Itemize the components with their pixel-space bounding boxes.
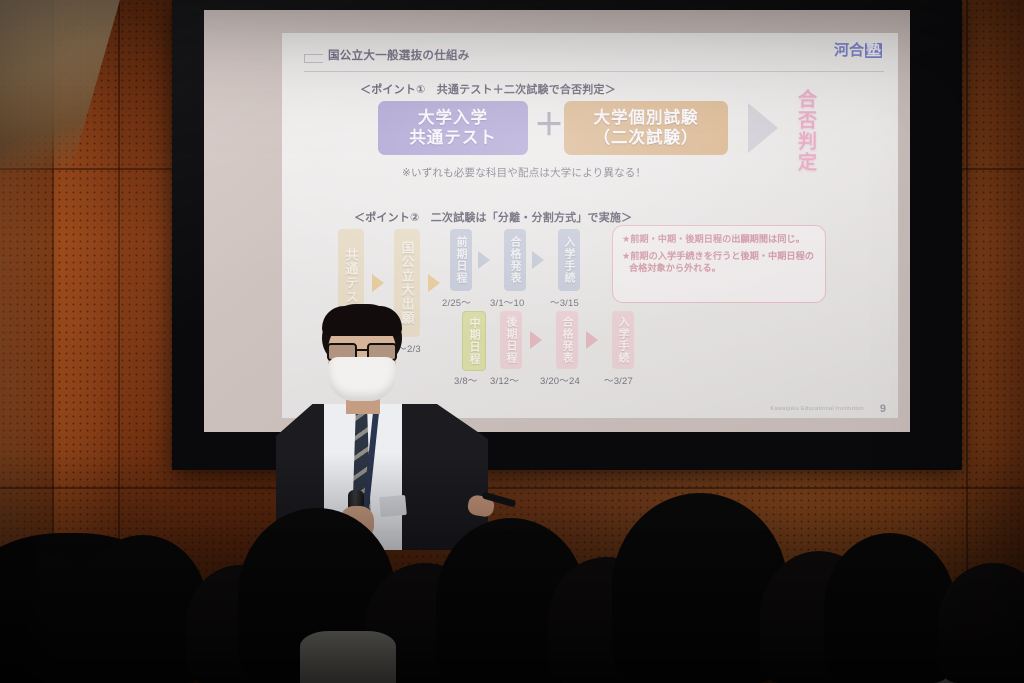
chevron-right-icon xyxy=(532,251,544,269)
slide-title: 国公立大一般選抜の仕組み xyxy=(328,47,470,63)
glasses-icon xyxy=(327,343,397,358)
box-common-test: 大学入学 共通テスト xyxy=(378,101,528,155)
date-late-schedule: 3/12〜 xyxy=(490,373,519,387)
point1-heading: ＜ポイント① 共通テスト＋二次試験で合否判定＞ xyxy=(360,81,616,97)
flow-box-early-schedule: 前期日程 xyxy=(450,229,472,291)
date-results-1: 3/1〜10 xyxy=(490,295,524,309)
box-individual-exam-line1: 大学個別試験 xyxy=(594,108,699,128)
plus-operator-icon: ＋ xyxy=(534,115,558,139)
hair-front xyxy=(322,306,402,336)
slide-page-number: 9 xyxy=(880,403,886,415)
chevron-right-icon xyxy=(372,274,384,292)
chevron-right-icon xyxy=(478,251,490,269)
flow-box-results-1: 合格発表 xyxy=(504,229,526,291)
header-bracket-icon xyxy=(304,54,323,63)
result-judgement-label: 合否判定 xyxy=(792,89,819,173)
box-common-test-line1: 大学入学 xyxy=(418,108,488,128)
callout-box: ★前期・中期・後期日程の出願期間は同じ。 ★前期の入学手続きを行うと後期・中期日… xyxy=(612,225,826,303)
kawaijuku-logo: 河合 塾 xyxy=(834,43,882,58)
box-individual-exam: 大学個別試験 （二次試験） xyxy=(564,101,728,155)
flow-box-enrollment-1: 入学手続 xyxy=(558,229,580,291)
flow-box-results-2: 合格発表 xyxy=(556,311,578,369)
box-common-test-line2: 共通テスト xyxy=(409,128,497,148)
audience-shading xyxy=(0,453,1024,683)
slide-header: 国公立大一般選抜の仕組み 河合 塾 xyxy=(304,45,884,72)
slide-footer-credit: Kawaijuku Educational Institution xyxy=(770,406,864,412)
callout-line-1: ★前期・中期・後期日程の出願期間は同じ。 xyxy=(622,233,816,245)
logo-text-part2: 塾 xyxy=(865,43,882,58)
logo-text-part1: 河合 xyxy=(834,43,864,58)
triangle-right-icon xyxy=(748,103,778,153)
box-individual-exam-line2: （二次試験） xyxy=(594,128,699,148)
callout-line-2: ★前期の入学手続きを行うと後期・中期日程の合格対象から外れる。 xyxy=(622,250,816,274)
date-results-2: 3/20〜24 xyxy=(540,373,580,387)
date-enrollment-2: 〜3/27 xyxy=(604,373,633,387)
chevron-right-icon xyxy=(530,331,542,349)
date-enrollment-1: 〜3/15 xyxy=(550,295,579,309)
chevron-right-icon xyxy=(428,274,440,292)
face-mask xyxy=(328,357,396,401)
presentation-photo: 国公立大一般選抜の仕組み 河合 塾 ＜ポイント① 共通テスト＋二次試験で合否判定… xyxy=(0,0,1024,683)
point2-heading: ＜ポイント② 二次試験は「分離・分割方式」で実施＞ xyxy=(354,209,632,225)
point1-note: ※いずれも必要な科目や配点は大学により異なる！ xyxy=(402,165,646,180)
flow-box-late-schedule: 後期日程 xyxy=(500,311,522,369)
audience xyxy=(0,453,1024,683)
flow-box-enrollment-2: 入学手続 xyxy=(612,311,634,369)
chevron-right-icon xyxy=(586,331,598,349)
